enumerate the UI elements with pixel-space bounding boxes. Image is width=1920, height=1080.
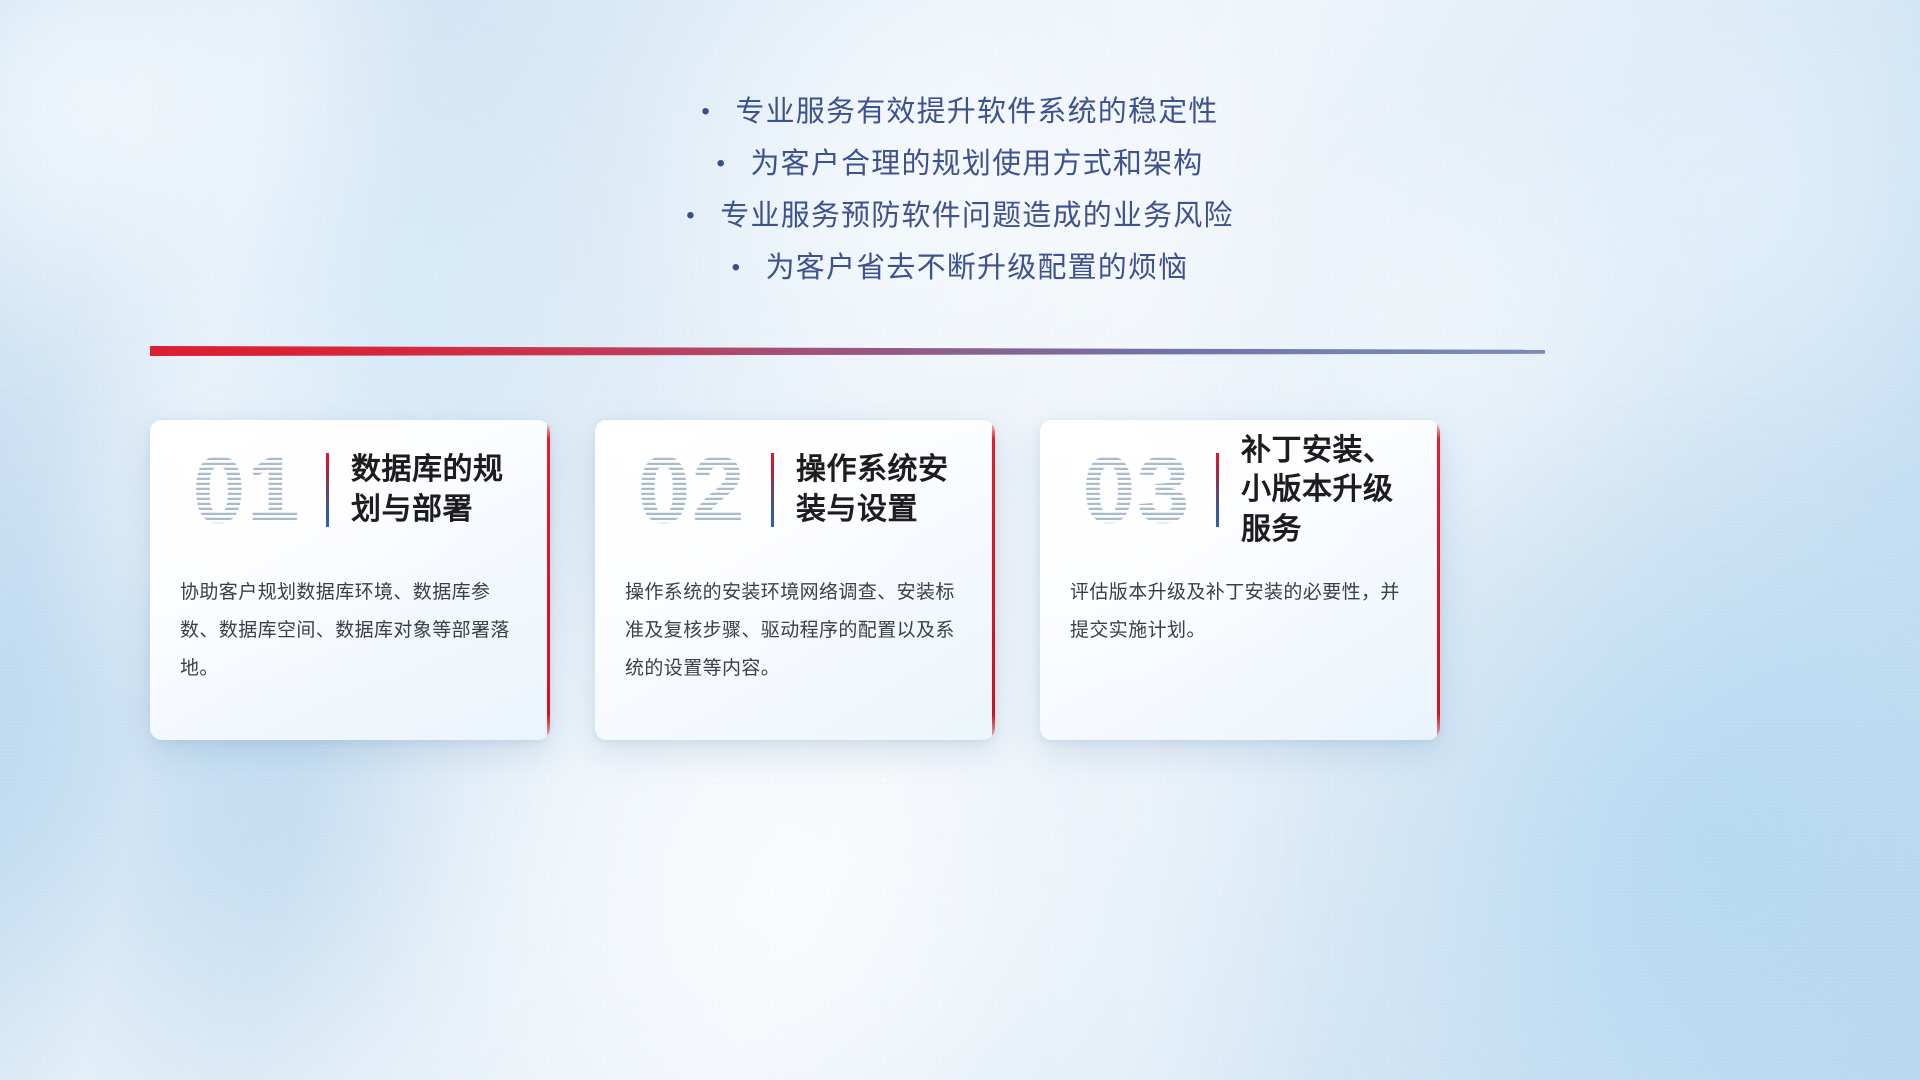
section-divider (150, 346, 1545, 360)
service-card-02[interactable]: 02 02 操作系统安装与设置 操作系统的安装环境网络调查、安装标准及复核步骤、… (595, 420, 995, 740)
card-number-tint: 01 (172, 435, 322, 545)
card-header: 03 03 补丁安装、小版本升级服务 (1040, 420, 1440, 560)
list-item: • 为客户合理的规划使用方式和架构 (716, 140, 1203, 192)
list-item: • 专业服务有效提升软件系统的稳定性 (701, 88, 1218, 140)
list-item: • 专业服务预防软件问题造成的业务风险 (686, 192, 1233, 244)
card-title: 补丁安装、小版本升级服务 (1241, 431, 1414, 550)
bullet-dot-icon: • (732, 256, 766, 280)
service-card-list: 01 01 数据库的规划与部署 协助客户规划数据库环境、数据库参数、数据库空间、… (150, 420, 1770, 740)
service-card-03[interactable]: 03 03 补丁安装、小版本升级服务 评估版本升级及补丁安装的必要性，并提交实施… (1040, 420, 1440, 740)
card-number-tint: 03 (1062, 435, 1212, 545)
bullet-text-2: 为客户合理的规划使用方式和架构 (750, 140, 1203, 182)
service-card-01[interactable]: 01 01 数据库的规划与部署 协助客户规划数据库环境、数据库参数、数据库空间、… (150, 420, 550, 740)
card-title: 操作系统安装与设置 (796, 450, 969, 529)
card-body-text: 评估版本升级及补丁安装的必要性，并提交实施计划。 (1070, 574, 1412, 650)
card-accent-rule (1216, 453, 1219, 527)
bullet-dot-icon: • (686, 204, 720, 228)
bullet-dot-icon: • (701, 100, 735, 124)
list-item: • 为客户省去不断升级配置的烦恼 (732, 244, 1189, 296)
bullet-text-4: 为客户省去不断升级配置的烦恼 (766, 244, 1189, 286)
card-number-watermark: 03 03 (1062, 435, 1212, 545)
card-number-watermark: 02 02 (617, 435, 767, 545)
benefits-bullet-list: • 专业服务有效提升软件系统的稳定性 • 为客户合理的规划使用方式和架构 • 专… (0, 88, 1920, 296)
bullet-text-1: 专业服务有效提升软件系统的稳定性 (735, 88, 1218, 130)
card-body-text: 操作系统的安装环境网络调查、安装标准及复核步骤、驱动程序的配置以及系统的设置等内… (625, 574, 967, 688)
card-number-watermark: 01 01 (172, 435, 322, 545)
card-header: 02 02 操作系统安装与设置 (595, 420, 995, 560)
card-body-text: 协助客户规划数据库环境、数据库参数、数据库空间、数据库对象等部署落地。 (180, 574, 522, 688)
card-number-tint: 02 (617, 435, 767, 545)
card-header: 01 01 数据库的规划与部署 (150, 420, 550, 560)
bullet-text-3: 专业服务预防软件问题造成的业务风险 (720, 192, 1233, 234)
card-accent-rule (326, 453, 329, 527)
card-accent-rule (771, 453, 774, 527)
bullet-dot-icon: • (716, 152, 750, 176)
card-title: 数据库的规划与部署 (351, 450, 524, 529)
